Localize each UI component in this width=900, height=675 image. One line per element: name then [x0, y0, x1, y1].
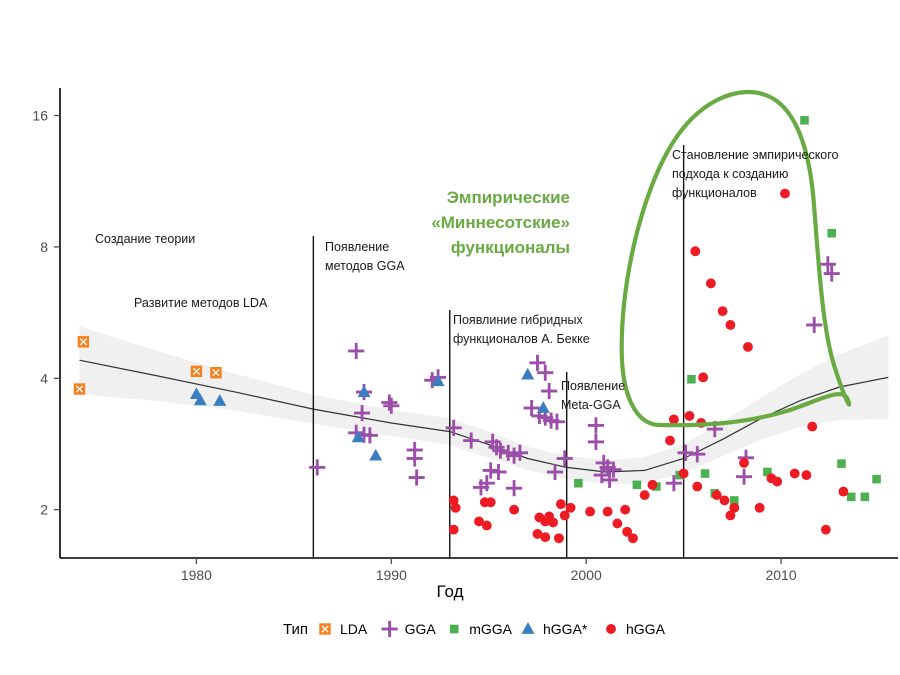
data-point-square-x — [74, 383, 85, 394]
data-point-circle — [725, 320, 735, 330]
data-point-plus — [588, 417, 604, 433]
data-point-circle — [606, 624, 616, 634]
legend-item-hGGA[interactable]: hGGA — [606, 621, 666, 637]
data-point-plus — [483, 462, 499, 478]
data-point-plus — [381, 394, 397, 410]
data-point-square-x — [78, 336, 89, 347]
data-point-plus — [309, 459, 325, 475]
data-point-circle — [698, 372, 708, 382]
legend-item-hGGAstar[interactable]: hGGA* — [522, 621, 588, 637]
legend-item-label: GGA — [405, 621, 437, 637]
annotation-minnesota: Эмпирические«Миннесотские»функционалы — [431, 188, 570, 257]
data-point-circle — [790, 469, 800, 479]
annotation-line: методов GGA — [325, 259, 405, 273]
x-tick-label: 2000 — [571, 567, 602, 583]
annotation-line: Появление — [561, 379, 625, 393]
data-point-plus — [736, 469, 752, 485]
annotation-line: подхода к созданию — [672, 167, 788, 181]
data-point-circle — [755, 503, 765, 513]
y-axis-ticks: 24816 — [32, 108, 60, 518]
y-tick-label: 16 — [32, 108, 48, 124]
annotation-line: Появление — [325, 240, 389, 254]
data-point-plus — [490, 464, 506, 480]
data-point-plus — [382, 621, 398, 637]
data-point-square — [837, 459, 846, 468]
data-point-square-x — [191, 366, 202, 377]
data-point-square — [847, 493, 856, 502]
y-tick-label: 8 — [40, 239, 48, 255]
data-point-circle — [718, 306, 728, 316]
data-point-circle — [482, 521, 492, 531]
data-point-circle — [620, 505, 630, 515]
annotation-line: Meta-GGA — [561, 398, 621, 412]
data-point-circle — [451, 503, 461, 513]
annotation-line: функционалов — [672, 186, 757, 200]
data-point-square — [633, 481, 642, 490]
data-point-circle — [692, 482, 702, 492]
data-point-square — [827, 229, 836, 238]
data-point-triangle — [522, 622, 535, 634]
data-point-square — [574, 479, 583, 488]
data-point-circle — [566, 503, 576, 513]
data-point-circle — [739, 458, 749, 468]
data-point-plus — [348, 343, 364, 359]
data-point-circle — [801, 470, 811, 480]
legend-item-LDA[interactable]: LDA — [319, 621, 368, 637]
data-point-plus — [820, 256, 836, 272]
data-point-circle — [509, 505, 519, 515]
data-point-circle — [612, 519, 622, 529]
x-axis-ticks: 1980199020002010 — [181, 558, 797, 583]
legend-item-label: hGGA — [626, 621, 666, 637]
data-point-circle — [669, 414, 679, 424]
annotation-line: Эмпирические — [447, 188, 570, 207]
data-point-circle — [449, 525, 459, 535]
data-point-circle — [720, 495, 730, 505]
data-point-circle — [772, 477, 782, 487]
annotation-metagga: ПоявлениеMeta-GGA — [561, 379, 625, 412]
annotation-theory: Создание теории — [95, 232, 195, 246]
data-point-circle — [706, 278, 716, 288]
annotation-line: функционалы — [451, 238, 570, 257]
data-point-circle — [585, 507, 595, 517]
data-point-plus — [806, 317, 822, 333]
data-point-triangle — [369, 449, 382, 461]
x-tick-label: 1980 — [181, 567, 212, 583]
data-point-plus — [588, 434, 604, 450]
data-point-circle — [648, 480, 658, 490]
data-point-square — [687, 375, 696, 384]
legend: ТипLDAGGAmGGAhGGA*hGGA — [283, 621, 666, 638]
data-point-circle — [780, 189, 790, 199]
annotation-lda: Развитие методов LDA — [134, 296, 268, 310]
annotation-hybrid: Появлиние гибридныхфункционалов А. Бекке — [453, 313, 590, 346]
data-point-circle — [640, 490, 650, 500]
annotation-line: Появлиние гибридных — [453, 313, 583, 327]
annotation-line: Создание теории — [95, 232, 195, 246]
data-point-square — [800, 116, 809, 125]
annotation-line: «Миннесотские» — [431, 213, 570, 232]
data-point-circle — [838, 487, 848, 497]
data-point-circle — [821, 525, 831, 535]
data-point-square — [701, 469, 710, 478]
data-point-square — [450, 625, 459, 634]
data-point-square — [872, 475, 881, 484]
data-point-circle — [729, 503, 739, 513]
data-point-circle — [628, 533, 638, 543]
legend-item-label: LDA — [340, 621, 368, 637]
annotation-gga: Появлениеметодов GGA — [325, 240, 405, 273]
chart-root: Нормализованная ошибка в электронной пло… — [0, 0, 900, 675]
data-point-circle — [486, 497, 496, 507]
data-point-circle — [556, 499, 566, 509]
data-point-circle — [603, 507, 613, 517]
annotation-line: Развитие методов LDA — [134, 296, 268, 310]
y-tick-label: 4 — [40, 370, 48, 386]
legend-title: Тип — [283, 621, 308, 638]
data-point-triangle — [521, 368, 534, 380]
data-point-plus — [824, 266, 840, 282]
data-point-circle — [685, 411, 695, 421]
data-point-circle — [554, 533, 564, 543]
legend-item-label: mGGA — [469, 621, 512, 637]
data-point-plus — [409, 469, 425, 485]
data-point-plus — [537, 365, 553, 381]
data-point-plus — [529, 355, 545, 371]
data-point-circle — [743, 342, 753, 352]
annotation-line: Становление эмпирического — [672, 148, 839, 162]
data-point-circle — [665, 436, 675, 446]
data-point-plus — [407, 450, 423, 466]
data-point-square-x — [319, 623, 330, 634]
x-tick-label: 2010 — [765, 567, 796, 583]
data-point-circle — [540, 532, 550, 542]
y-tick-label: 2 — [40, 502, 48, 518]
x-tick-label: 1990 — [376, 567, 407, 583]
data-point-plus — [541, 383, 557, 399]
data-point-circle — [679, 469, 689, 479]
data-point-square — [861, 493, 870, 502]
data-point-plus — [524, 400, 540, 416]
legend-item-GGA[interactable]: GGA — [382, 621, 437, 637]
data-point-circle — [690, 246, 700, 256]
data-point-square-x — [210, 367, 221, 378]
data-point-plus — [506, 480, 522, 496]
data-point-circle — [807, 422, 817, 432]
scatter-plot-canvas: 24816 1980199020002010 Создание теорииРа… — [0, 0, 900, 675]
legend-item-label: hGGA* — [543, 621, 588, 637]
legend-item-mGGA[interactable]: mGGA — [450, 621, 513, 637]
data-point-circle — [548, 517, 558, 527]
annotation-line: функционалов А. Бекке — [453, 332, 590, 346]
